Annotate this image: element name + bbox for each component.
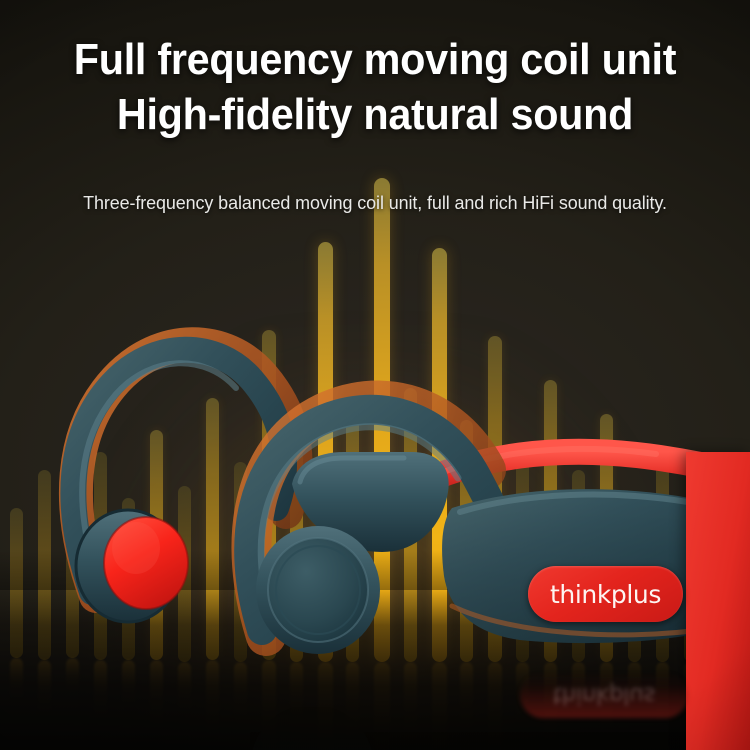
equalizer-bar (488, 336, 502, 662)
thinkplus-logo: thinkplus (528, 566, 683, 622)
equalizer-bar (656, 446, 669, 662)
equalizer-bar (178, 486, 191, 662)
equalizer-bar-reflection (318, 662, 333, 750)
equalizer-bar-reflection (38, 660, 51, 717)
equalizer-bar-reflection (66, 658, 79, 693)
page-subtitle: Three-frequency balanced moving coil uni… (11, 192, 739, 214)
equalizer-bar (66, 540, 79, 658)
equalizer-bar (150, 430, 163, 660)
product-red-panel (686, 452, 750, 750)
equalizer-bar-reflection (600, 662, 613, 736)
equalizer-bar-reflection (346, 662, 359, 739)
equalizer-bar-reflection (404, 662, 417, 744)
equalizer-bar-reflection (544, 662, 557, 747)
equalizer-bar (122, 498, 135, 660)
equalizer-bar (38, 470, 51, 660)
thinkplus-logo-text: thinkplus (550, 580, 661, 609)
equalizer-bar-reflection (432, 662, 447, 750)
equalizer-bar (206, 398, 219, 660)
equalizer-bar (346, 404, 359, 662)
equalizer-bar-reflection (572, 662, 585, 720)
equalizer-bar (318, 242, 333, 662)
equalizer-bar-reflection (234, 662, 247, 722)
equalizer-bar (262, 330, 276, 660)
equalizer-bar (94, 452, 107, 660)
equalizer-bar-reflection (94, 660, 107, 722)
equalizer-bar-reflection (178, 662, 191, 715)
equalizer-bar-reflection (10, 658, 23, 703)
equalizer-bar-reflection (206, 660, 219, 739)
equalizer-bar (10, 508, 23, 658)
equalizer-bar (234, 462, 247, 662)
equalizer-bar-reflection (150, 660, 163, 729)
equalizer-bar (290, 440, 303, 662)
equalizer-bar-reflection (516, 662, 529, 725)
equalizer-bar (404, 388, 417, 662)
equalizer-bar-reflection (290, 662, 303, 729)
equalizer-bar (460, 420, 473, 662)
product-banner: thinkplus thinkplus Full frequency movin… (0, 0, 750, 750)
equalizer-bar (516, 452, 529, 662)
page-title: Full frequency moving coil unit High-fid… (23, 32, 728, 142)
equalizer-bar-reflection (122, 660, 135, 709)
equalizer-bar-reflection (374, 662, 390, 750)
equalizer-bar-reflection (460, 662, 473, 735)
headline-line-2: High-fidelity natural sound (23, 87, 728, 142)
equalizer-bar-reflection (628, 662, 641, 712)
equalizer-bar-reflection (488, 662, 502, 750)
headline-line-1: Full frequency moving coil unit (74, 35, 677, 84)
equalizer-bar-reflection (656, 662, 669, 727)
equalizer-bar-reflection (262, 660, 276, 750)
equalizer-bar (432, 248, 447, 662)
equalizer-bar (600, 414, 613, 662)
equalizer-bar (374, 178, 390, 662)
